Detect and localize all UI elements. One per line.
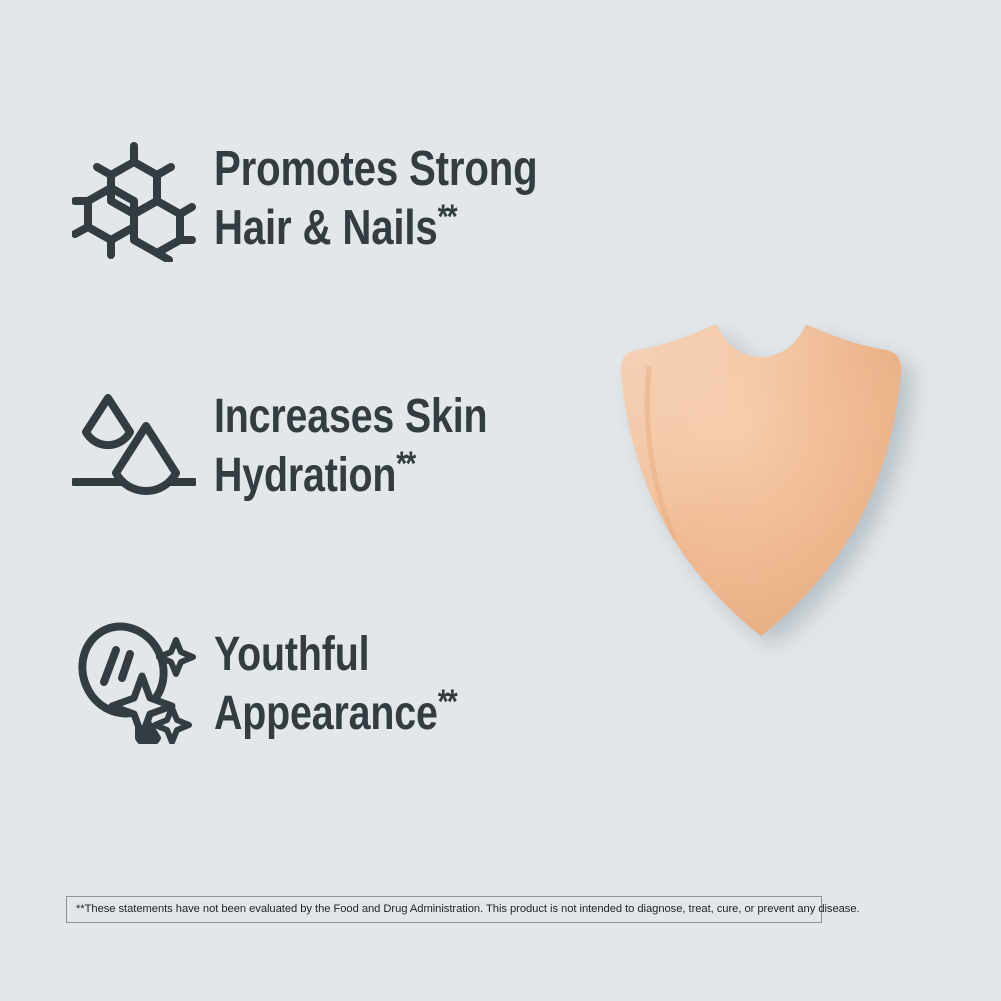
benefit-line-2: Hydration [214, 449, 396, 502]
product-benefits-page: Promotes Strong Hair & Nails** Increases… [0, 0, 1001, 1001]
gummy-sheen [621, 324, 901, 636]
water-droplets-icon [72, 382, 196, 506]
benefit-label-hair-nails: Promotes Strong Hair & Nails** [214, 138, 537, 257]
benefit-line-1: Increases Skin [214, 390, 487, 445]
benefit-line-2: Hair & Nails [214, 201, 438, 255]
footnote-marker: ** [438, 198, 456, 236]
molecule-hexagons-icon [72, 138, 196, 262]
mirror-sparkle-icon [72, 620, 196, 744]
footnote-marker: ** [396, 445, 414, 483]
fda-disclaimer-box: **These statements have not been evaluat… [66, 896, 822, 923]
benefit-item-youthful-appearance: Youthful Appearance** [72, 620, 509, 744]
benefit-line-1: Promotes Strong [214, 142, 537, 198]
fda-disclaimer-text: **These statements have not been evaluat… [76, 904, 860, 915]
benefit-item-hair-nails: Promotes Strong Hair & Nails** [72, 138, 608, 262]
benefit-label-youthful-appearance: Youthful Appearance** [214, 620, 456, 741]
benefit-line-2: Appearance [214, 687, 438, 740]
shield-gummy-image [575, 300, 955, 680]
benefits-list: Promotes Strong Hair & Nails** Increases… [0, 0, 560, 860]
benefit-item-skin-hydration: Increases Skin Hydration** [72, 382, 547, 506]
benefit-line-1: Youthful [214, 628, 456, 683]
footnote-marker: ** [438, 683, 456, 721]
benefit-label-skin-hydration: Increases Skin Hydration** [214, 382, 487, 503]
